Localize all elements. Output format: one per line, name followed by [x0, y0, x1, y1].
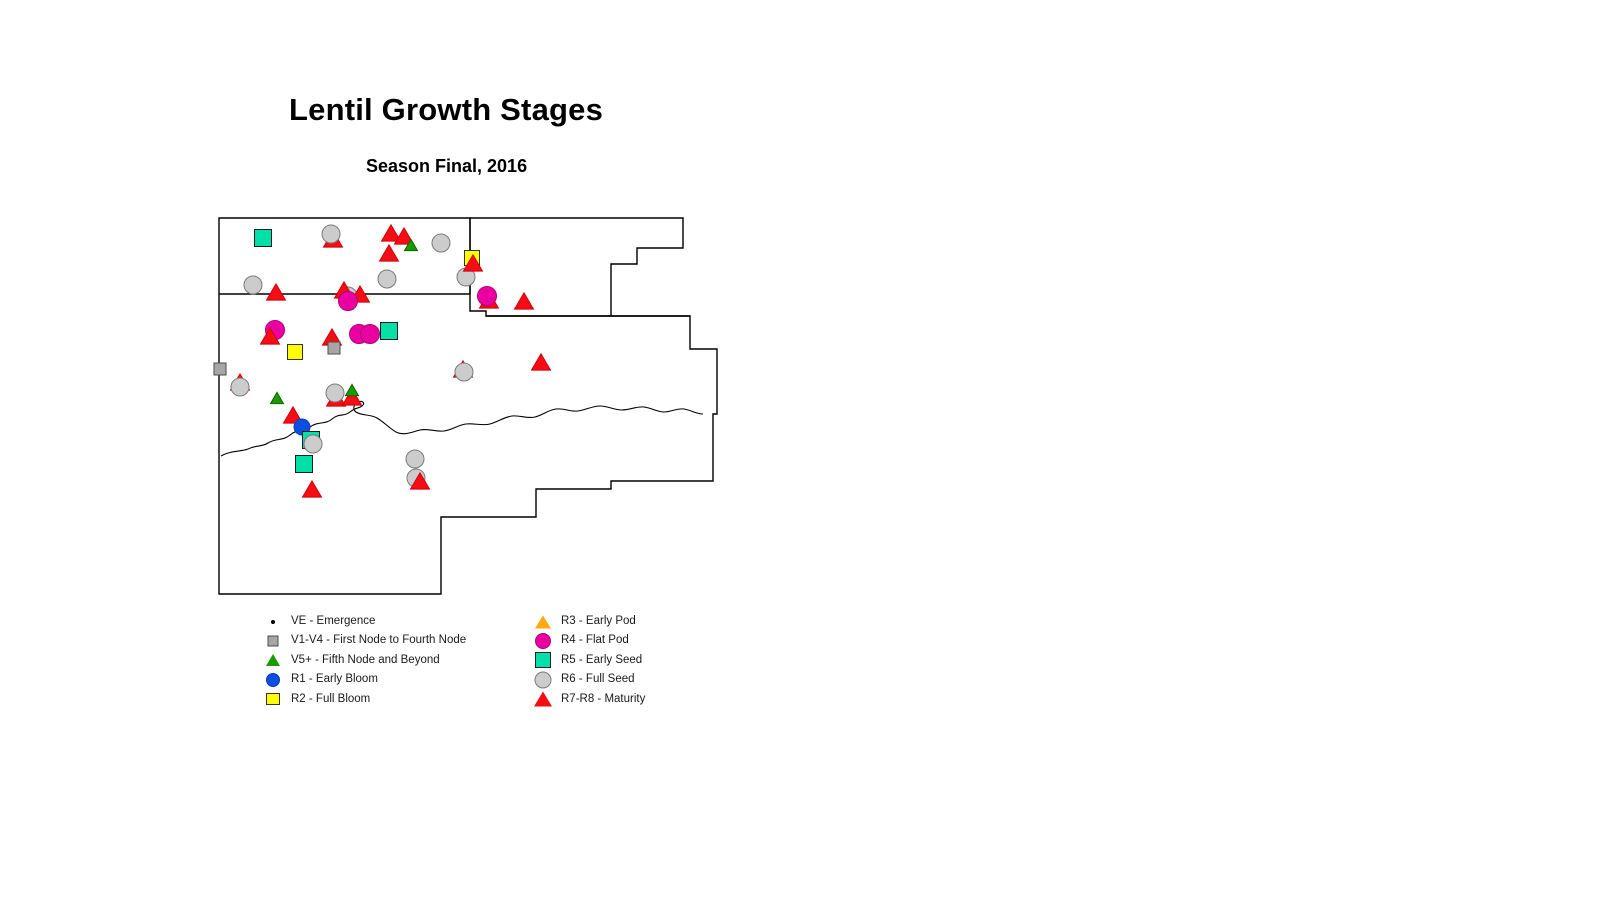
r3-orange-triangle-icon — [532, 612, 554, 631]
map-marker-circle-magenta[interactable] — [478, 287, 497, 306]
legend-item-label: R6 - Full Seed — [561, 674, 635, 686]
legend-item-v5-[interactable]: V5+ - Fifth Node and Beyond — [262, 651, 466, 670]
legend-item-r5[interactable]: R5 - Early Seed — [532, 651, 645, 670]
map-marker-circle-gray[interactable] — [322, 225, 340, 243]
legend-item-r3[interactable]: R3 - Early Pod — [532, 612, 645, 631]
legend-item-r7-r8[interactable]: R7-R8 - Maturity — [532, 690, 645, 709]
legend-item-v1-v4[interactable]: V1-V4 - First Node to Fourth Node — [262, 631, 466, 650]
map-marker-circle-gray[interactable] — [244, 276, 262, 294]
legend-column-left: VE - EmergenceV1-V4 - First Node to Four… — [262, 612, 466, 709]
legend-item-label: R2 - Full Bloom — [291, 694, 370, 706]
legend-item-label: V1-V4 - First Node to Fourth Node — [291, 635, 466, 647]
map-marker-circle-magenta[interactable] — [361, 325, 380, 344]
legend-item-label: R1 - Early Bloom — [291, 674, 378, 686]
ve-emergence-dot-icon — [262, 612, 284, 631]
legend-column-right: R3 - Early PodR4 - Flat PodR5 - Early Se… — [532, 612, 645, 709]
map-marker-circle-gray[interactable] — [231, 378, 249, 396]
v1v4-gray-square-icon — [262, 632, 284, 651]
map-marker-circle-magenta[interactable] — [339, 292, 358, 311]
legend-item-r2[interactable]: R2 - Full Bloom — [262, 690, 466, 709]
map-marker-circle-gray[interactable] — [432, 234, 450, 252]
legend-item-label: VE - Emergence — [291, 616, 375, 628]
legend-item-r1[interactable]: R1 - Early Bloom — [262, 670, 466, 689]
legend-item-ve[interactable]: VE - Emergence — [262, 612, 466, 631]
r7r8-red-triangle-icon-glyph — [534, 692, 552, 707]
ve-emergence-dot-icon-glyph — [271, 620, 275, 624]
map-marker-square-teal[interactable] — [381, 323, 398, 340]
map-canvas — [0, 0, 1612, 900]
r1-blue-circle-icon — [262, 670, 284, 689]
r3-orange-triangle-icon-glyph — [535, 615, 551, 628]
map-marker-circle-gray[interactable] — [455, 363, 473, 381]
map-marker-circle-gray[interactable] — [304, 435, 322, 453]
map-marker-circle-gray[interactable] — [406, 450, 424, 468]
r2-yellow-square-icon — [262, 690, 284, 709]
map-marker-square-yellow[interactable] — [288, 345, 303, 360]
r6-gray-circle-icon — [532, 670, 554, 689]
v5plus-green-triangle-icon-glyph — [266, 654, 280, 666]
legend-item-label: R5 - Early Seed — [561, 655, 642, 667]
map-page: Lentil Growth Stages Season Final, 2016 … — [0, 0, 1612, 900]
r7r8-red-triangle-icon — [532, 690, 554, 709]
legend-item-label: R4 - Flat Pod — [561, 635, 629, 647]
legend-item-label: V5+ - Fifth Node and Beyond — [291, 655, 440, 667]
r4-magenta-circle-icon-glyph — [535, 633, 551, 649]
r5-teal-square-icon-glyph — [535, 652, 551, 668]
map-marker-triangle-red[interactable] — [515, 293, 534, 309]
legend-item-label: R7-R8 - Maturity — [561, 694, 645, 706]
map-boundary-path — [470, 218, 683, 316]
r2-yellow-square-icon-glyph — [266, 693, 280, 705]
map-marker-square-gray[interactable] — [328, 342, 340, 354]
legend-item-label: R3 - Early Pod — [561, 616, 636, 628]
legend-item-r4[interactable]: R4 - Flat Pod — [532, 631, 645, 650]
r4-magenta-circle-icon — [532, 632, 554, 651]
map-marker-square-teal[interactable] — [255, 230, 272, 247]
v1v4-gray-square-icon-glyph — [268, 636, 279, 647]
r1-blue-circle-icon-glyph — [266, 673, 280, 687]
map-marker-square-gray[interactable] — [214, 363, 226, 375]
legend-item-r6[interactable]: R6 - Full Seed — [532, 670, 645, 689]
map-marker-square-teal[interactable] — [296, 456, 313, 473]
map-marker-circle-gray[interactable] — [378, 270, 396, 288]
v5plus-green-triangle-icon — [262, 651, 284, 670]
r6-gray-circle-icon-glyph — [535, 671, 552, 688]
map-marker-circle-gray[interactable] — [326, 384, 344, 402]
r5-teal-square-icon — [532, 651, 554, 670]
legend: VE - EmergenceV1-V4 - First Node to Four… — [262, 612, 682, 720]
